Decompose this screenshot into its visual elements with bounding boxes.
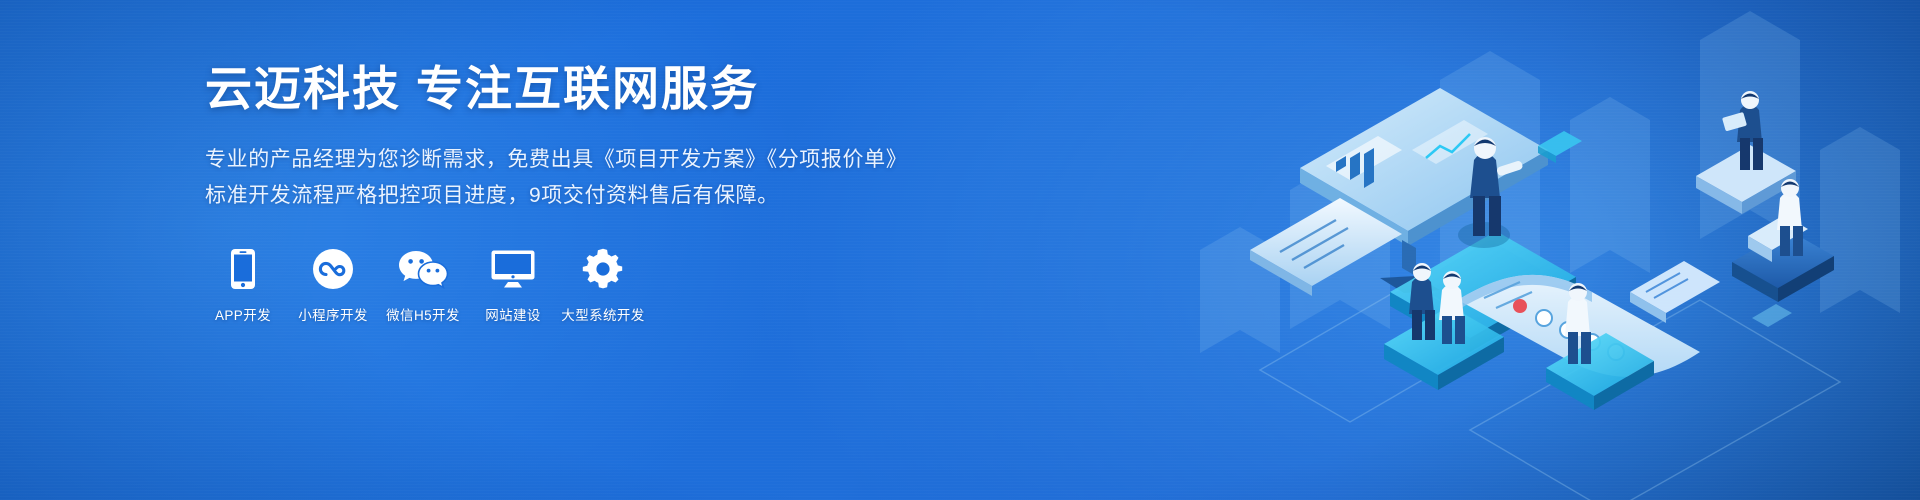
hero-content: 云迈科技 专注互联网服务 专业的产品经理为您诊断需求，免费出具《项目开发方案》《… <box>205 62 965 324</box>
service-item-wechat-h5[interactable]: 微信H5开发 <box>385 247 461 324</box>
service-item-website[interactable]: 网站建设 <box>475 247 551 324</box>
subtitle-line-1: 专业的产品经理为您诊断需求，免费出具《项目开发方案》《分项报价单》 <box>205 143 965 177</box>
monitor-icon <box>490 247 536 291</box>
service-label-app: APP开发 <box>215 304 271 324</box>
gear-icon <box>582 247 624 291</box>
service-item-miniprogram[interactable]: 小程序开发 <box>295 247 371 324</box>
subtitle-line-2: 标准开发流程严格把控项目进度，9项交付资料售后有保障。 <box>205 179 965 213</box>
illustration-isometric-business-analytics <box>1140 0 1920 500</box>
service-item-large-system[interactable]: 大型系统开发 <box>565 247 641 324</box>
service-label-wechat-h5: 微信H5开发 <box>386 304 460 324</box>
service-icon-list: APP开发 小程序开发 <box>205 247 965 324</box>
mini-program-icon <box>312 247 354 291</box>
hero-banner: 云迈科技 专注互联网服务 专业的产品经理为您诊断需求，免费出具《项目开发方案》《… <box>0 0 1920 500</box>
service-label-website: 网站建设 <box>485 304 541 324</box>
mobile-phone-icon <box>230 247 256 291</box>
page-title: 云迈科技 专注互联网服务 <box>205 62 965 117</box>
service-label-large-system: 大型系统开发 <box>561 304 644 324</box>
service-label-miniprogram: 小程序开发 <box>298 304 368 324</box>
wechat-icon <box>397 247 449 291</box>
service-item-app[interactable]: APP开发 <box>205 247 281 324</box>
